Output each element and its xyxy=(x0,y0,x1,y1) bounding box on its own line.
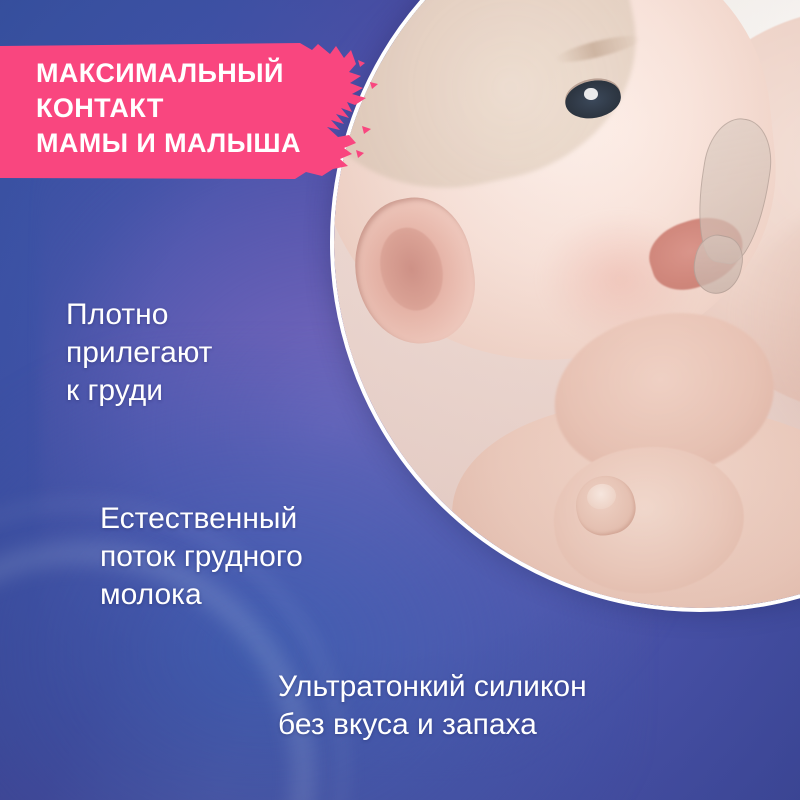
feature-caption-ultrathin-silicone: Ультратонкий силикон без вкуса и запаха xyxy=(278,668,587,744)
hero-photo-circle xyxy=(330,0,800,612)
feature-caption-natural-flow: Естественный поток грудного молока xyxy=(100,500,303,614)
hero-photo-image xyxy=(334,0,800,608)
photo-color-wash xyxy=(334,0,800,608)
feature-caption-tight-fit: Плотно прилегают к груди xyxy=(66,296,212,410)
banner-headline: МАКСИМАЛЬНЫЙ КОНТАКТ МАМЫ И МАЛЫША xyxy=(36,56,366,161)
promo-banner-canvas: МАКСИМАЛЬНЫЙ КОНТАКТ МАМЫ И МАЛЫША Плотн… xyxy=(0,0,800,800)
